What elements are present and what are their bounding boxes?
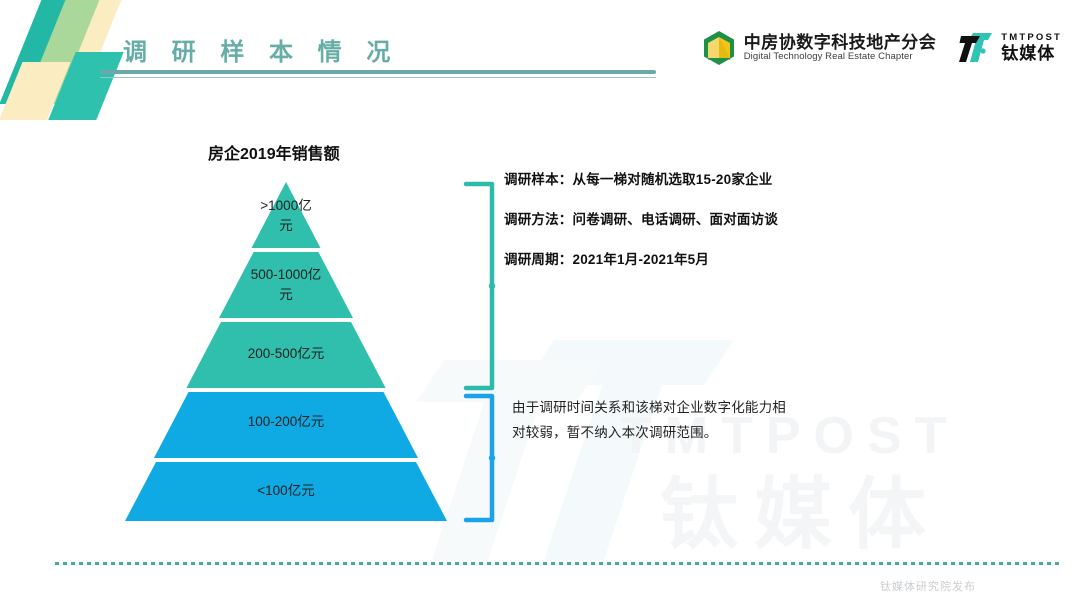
media-logo-text: TMTPOST 钛媒体 bbox=[1001, 33, 1062, 63]
pyramid-label-1: >1000亿 元 bbox=[227, 196, 345, 235]
org-name-cn: 中房协数字科技地产分会 bbox=[744, 33, 937, 52]
decorative-parallelograms bbox=[0, 0, 140, 120]
media-name-en: TMTPOST bbox=[1001, 33, 1062, 44]
pyramid-label-5: <100亿元 bbox=[222, 481, 350, 501]
survey-sample-line: 调研样本：从每一梯对随机选取15-20家企业 bbox=[504, 168, 974, 188]
footer-dotted-divider bbox=[55, 562, 1060, 565]
org-name-en: Digital Technology Real Estate Chapter bbox=[744, 52, 937, 63]
bracket-survey-scope bbox=[466, 184, 492, 388]
hexagon-logo-icon bbox=[702, 30, 736, 66]
title-rule-thick bbox=[100, 70, 656, 74]
survey-method-line: 调研方法：问卷调研、电话调研、面对面访谈 bbox=[504, 208, 974, 228]
logo-group: 中房协数字科技地产分会 Digital Technology Real Esta… bbox=[702, 30, 1062, 66]
bracket-survey-node bbox=[489, 283, 495, 289]
footer-attribution: 钛媒体研究院发布 bbox=[880, 578, 976, 594]
page-title: 调 研 样 本 情 况 bbox=[123, 32, 399, 67]
org-logo: 中房协数字科技地产分会 Digital Technology Real Esta… bbox=[702, 30, 937, 66]
survey-period-line: 调研周期：2021年1月-2021年5月 bbox=[504, 248, 974, 268]
group-brackets bbox=[462, 170, 508, 530]
bracket-excluded-scope bbox=[466, 396, 492, 520]
exclusion-note-line-2: 对较弱，暂不纳入本次调研范围。 bbox=[512, 421, 892, 446]
org-logo-text: 中房协数字科技地产分会 Digital Technology Real Esta… bbox=[744, 33, 937, 63]
slide-root: 调 研 样 本 情 况 中房协数字科技地产分会 Digital Technolo… bbox=[0, 0, 1080, 607]
watermark-text-cn: 钛媒体 bbox=[660, 452, 942, 564]
exclusion-note-line-1: 由于调研时间关系和该梯对企业数字化能力相 bbox=[512, 396, 892, 421]
pyramid-label-2: 500-1000亿 元 bbox=[222, 265, 350, 304]
title-rule-thin bbox=[100, 77, 656, 78]
chart-title: 房企2019年销售额 bbox=[208, 140, 340, 164]
exclusion-note: 由于调研时间关系和该梯对企业数字化能力相 对较弱，暂不纳入本次调研范围。 bbox=[512, 396, 892, 446]
pyramid-label-4: 100-200亿元 bbox=[222, 412, 350, 432]
tmtpost-logo-icon bbox=[958, 31, 994, 65]
media-logo: TMTPOST 钛媒体 bbox=[958, 31, 1062, 65]
survey-details: 调研样本：从每一梯对随机选取15-20家企业 调研方法：问卷调研、电话调研、面对… bbox=[504, 168, 974, 288]
bracket-excluded-node bbox=[489, 455, 495, 461]
media-name-cn: 钛媒体 bbox=[1001, 44, 1062, 64]
pyramid-label-3: 200-500亿元 bbox=[222, 344, 350, 364]
